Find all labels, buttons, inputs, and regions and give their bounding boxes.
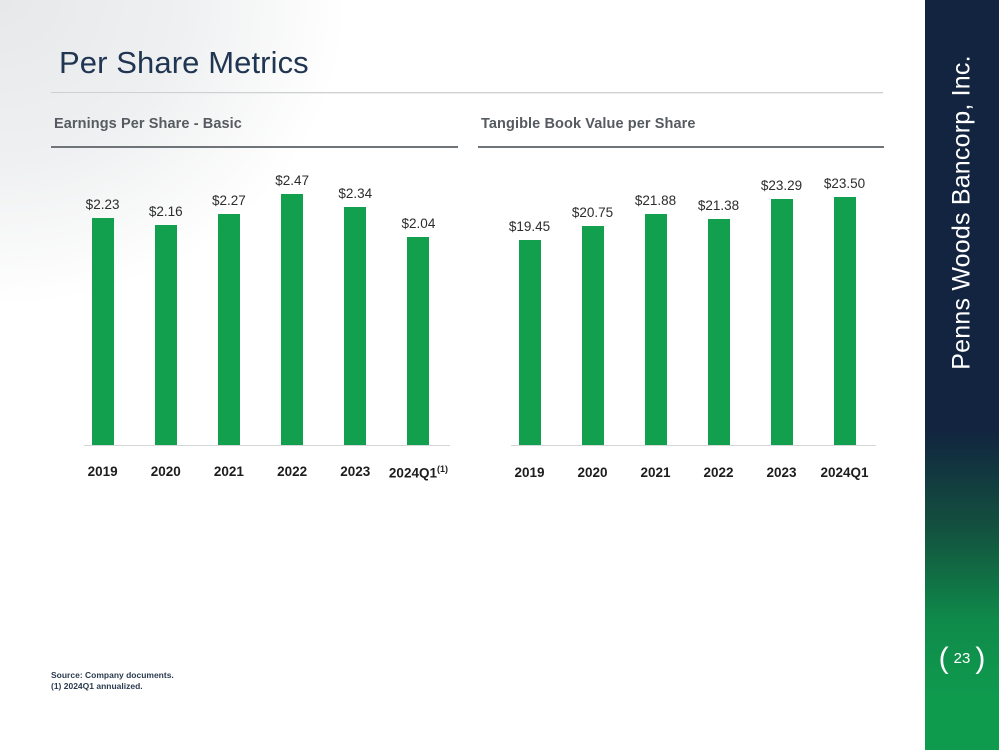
bar — [92, 218, 114, 445]
bar-slot: $2.16 — [134, 165, 197, 445]
bracket-left-icon: ( — [934, 642, 954, 675]
chart-title-underline-eps — [51, 146, 458, 148]
bar — [582, 226, 604, 445]
bar-series-eps: $2.23$2.16$2.27$2.47$2.34$2.04 — [71, 165, 450, 445]
bar — [155, 225, 177, 445]
footnote: Source: Company documents. (1) 2024Q1 an… — [51, 670, 174, 692]
x-tick-label: 2022 — [687, 465, 750, 480]
x-tick-labels-eps: 201920202021202220232024Q1(1) — [71, 464, 450, 481]
plot-area-eps: $2.23$2.16$2.27$2.47$2.34$2.04 201920202… — [71, 165, 450, 502]
bar-slot: $23.50 — [813, 165, 876, 445]
brand-sidebar: Penns Woods Bancorp, Inc. (23) — [925, 0, 999, 750]
bar-value-label: $2.23 — [86, 197, 120, 212]
bar-slot: $2.04 — [387, 165, 450, 445]
slide-canvas: Per Share Metrics Earnings Per Share - B… — [0, 0, 999, 750]
bar-value-label: $21.88 — [635, 193, 676, 208]
bar-slot: $2.47 — [261, 165, 324, 445]
x-axis-line-tbv — [511, 445, 876, 446]
chart-title-tbv: Tangible Book Value per Share — [481, 116, 696, 132]
x-tick-label: 2020 — [134, 464, 197, 481]
bar-value-label: $2.34 — [338, 186, 372, 201]
x-tick-label: 2021 — [624, 465, 687, 480]
bar-chart-eps: $2.23$2.16$2.27$2.47$2.34$2.04 201920202… — [51, 165, 458, 510]
bar-value-label: $23.29 — [761, 178, 802, 193]
bar-value-label: $20.75 — [572, 205, 613, 220]
x-tick-label: 2023 — [324, 464, 387, 481]
footnote-annualized: (1) 2024Q1 annualized. — [51, 681, 174, 692]
bar-value-label: $2.27 — [212, 193, 246, 208]
bar-slot: $19.45 — [498, 165, 561, 445]
bar — [519, 240, 541, 446]
footnote-marker: (1) — [437, 464, 448, 474]
title-divider — [51, 92, 883, 93]
bar — [344, 207, 366, 445]
bar-slot: $2.34 — [324, 165, 387, 445]
bar-value-label: $21.38 — [698, 198, 739, 213]
bar-slot: $2.23 — [71, 165, 134, 445]
x-tick-label: 2022 — [261, 464, 324, 481]
page-number: 23 — [954, 650, 971, 667]
bracket-right-icon: ) — [970, 642, 990, 675]
x-tick-label: 2019 — [71, 464, 134, 481]
bar — [218, 214, 240, 445]
page-title: Per Share Metrics — [59, 45, 309, 81]
chart-panel-eps: Earnings Per Share - Basic $2.23$2.16$2.… — [51, 110, 458, 510]
bar — [645, 214, 667, 445]
bar-slot: $21.88 — [624, 165, 687, 445]
x-tick-label: 2023 — [750, 465, 813, 480]
bar-value-label: $2.16 — [149, 204, 183, 219]
bar-value-label: $2.47 — [275, 173, 309, 188]
bar-series-tbv: $19.45$20.75$21.88$21.38$23.29$23.50 — [498, 165, 876, 445]
bar-slot: $23.29 — [750, 165, 813, 445]
x-tick-label: 2019 — [498, 465, 561, 480]
chart-title-underline-tbv — [478, 146, 884, 148]
x-tick-label: 2020 — [561, 465, 624, 480]
bar-slot: $21.38 — [687, 165, 750, 445]
x-axis-line-eps — [84, 445, 450, 446]
x-tick-label: 2024Q1(1) — [387, 464, 450, 481]
bar — [771, 199, 793, 445]
x-tick-label: 2021 — [197, 464, 260, 481]
bar — [708, 219, 730, 445]
bar — [834, 197, 856, 445]
x-tick-labels-tbv: 201920202021202220232024Q1 — [498, 465, 876, 480]
bar-value-label: $2.04 — [402, 216, 436, 231]
footnote-source: Source: Company documents. — [51, 670, 174, 681]
bar-value-label: $23.50 — [824, 176, 865, 191]
bar-chart-tbv: $19.45$20.75$21.88$21.38$23.29$23.50 201… — [478, 165, 884, 510]
bar — [407, 237, 429, 445]
bar-slot: $2.27 — [197, 165, 260, 445]
plot-area-tbv: $19.45$20.75$21.88$21.38$23.29$23.50 201… — [498, 165, 876, 502]
bar — [281, 194, 303, 445]
chart-panel-tbv: Tangible Book Value per Share $19.45$20.… — [478, 110, 884, 510]
page-number-badge: (23) — [925, 640, 999, 678]
bar-value-label: $19.45 — [509, 219, 550, 234]
x-tick-label: 2024Q1 — [813, 465, 876, 480]
bar-slot: $20.75 — [561, 165, 624, 445]
company-name-vertical: Penns Woods Bancorp, Inc. — [948, 55, 977, 369]
chart-title-eps: Earnings Per Share - Basic — [54, 116, 242, 132]
